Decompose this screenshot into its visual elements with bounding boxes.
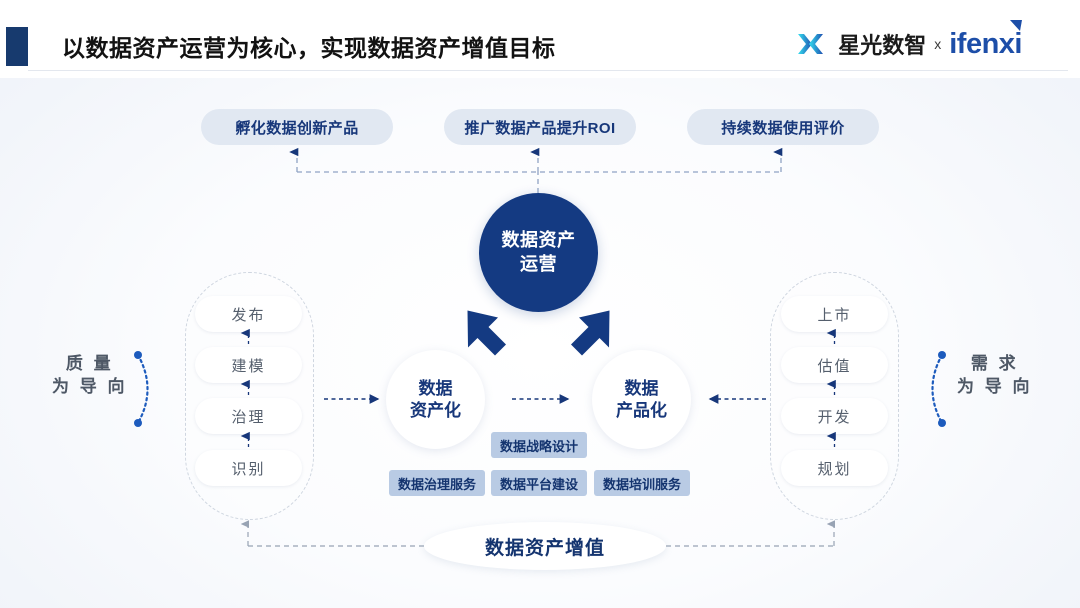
- right-orientation-arc: [933, 355, 943, 423]
- slide-header: 以数据资产运营为核心，实现数据资产增值目标 星光数智 x ifenxi: [0, 0, 1080, 78]
- center-node-line1: 数据资产: [502, 229, 576, 252]
- thick-arrow-left: [468, 311, 507, 356]
- right-arc-dot-top: [938, 351, 946, 359]
- stage-label: 建模: [231, 355, 265, 376]
- stage-label: 估值: [817, 355, 851, 376]
- brand-separator: x: [933, 36, 942, 52]
- left-orientation-arc: [138, 355, 148, 423]
- left-orientation-label: 质 量 为 导 向: [52, 353, 127, 399]
- outcome-pill-label: 推广数据产品提升ROI: [464, 117, 615, 138]
- left-stage-publish[interactable]: 发布: [195, 296, 302, 332]
- center-node-data-asset-operation[interactable]: 数据资产 运营: [479, 193, 598, 312]
- right-orientation-line2: 为 导 向: [957, 376, 1032, 399]
- right-arc-dot-bottom: [938, 419, 946, 427]
- stage-label: 规划: [817, 458, 851, 479]
- node-line1: 数据: [419, 378, 453, 400]
- right-orientation-line1: 需 求: [957, 353, 1032, 376]
- outcome-pill-incubate[interactable]: 孵化数据创新产品: [201, 109, 393, 145]
- slide-canvas: 以数据资产运营为核心，实现数据资产增值目标 星光数智 x ifenxi: [0, 0, 1080, 608]
- thick-arrow-right: [571, 311, 610, 356]
- thick-arrows-to-center: [434, 311, 610, 358]
- header-divider: [28, 70, 1068, 71]
- node-data-assetization[interactable]: 数据 资产化: [386, 350, 485, 449]
- brand-name-en: ifenxi: [949, 30, 1022, 59]
- node-line1: 数据: [625, 378, 659, 400]
- xingguang-logo-icon: [797, 31, 831, 57]
- right-stage-development[interactable]: 开发: [781, 398, 888, 434]
- left-orientation-line1: 质 量: [52, 353, 127, 376]
- stage-label: 上市: [817, 304, 851, 325]
- outcome-pill-label: 孵化数据创新产品: [235, 117, 358, 138]
- service-tag-training[interactable]: 数据培训服务: [594, 470, 690, 496]
- page-title: 以数据资产运营为核心，实现数据资产增值目标: [62, 29, 556, 63]
- service-tag-strategy-design[interactable]: 数据战略设计: [491, 432, 587, 458]
- stage-label: 治理: [231, 406, 265, 427]
- service-tag-label: 数据治理服务: [398, 474, 476, 493]
- service-tag-label: 数据平台建设: [500, 474, 578, 493]
- right-stage-planning[interactable]: 规划: [781, 450, 888, 486]
- service-tag-governance[interactable]: 数据治理服务: [389, 470, 485, 496]
- outcome-pill-evaluate[interactable]: 持续数据使用评价: [687, 109, 879, 145]
- center-node-line2: 运营: [520, 253, 557, 276]
- left-stage-model[interactable]: 建模: [195, 347, 302, 383]
- top-outcome-connectors: [297, 152, 781, 193]
- left-orientation-line2: 为 导 向: [52, 376, 127, 399]
- stage-label: 发布: [231, 304, 265, 325]
- stage-label: 开发: [817, 406, 851, 427]
- right-orientation-label: 需 求 为 导 向: [957, 353, 1032, 399]
- right-stage-listing[interactable]: 上市: [781, 296, 888, 332]
- value-node-label: 数据资产增值: [485, 533, 605, 560]
- node-data-productization[interactable]: 数据 产品化: [592, 350, 691, 449]
- left-stage-identify[interactable]: 识别: [195, 450, 302, 486]
- title-accent-bar: [6, 27, 28, 66]
- node-line2: 资产化: [410, 400, 461, 422]
- brand-name-cn: 星光数智: [838, 28, 926, 60]
- left-stage-govern[interactable]: 治理: [195, 398, 302, 434]
- brand-en-text: ifenxi: [949, 28, 1022, 60]
- brand-tick-icon: [1009, 19, 1024, 32]
- outcome-pill-promote[interactable]: 推广数据产品提升ROI: [444, 109, 636, 145]
- left-arc-dot-top: [134, 351, 142, 359]
- outcome-pill-label: 持续数据使用评价: [721, 117, 844, 138]
- service-tag-label: 数据战略设计: [500, 436, 578, 455]
- value-node-data-asset-appreciation[interactable]: 数据资产增值: [424, 522, 666, 570]
- left-arc-dot-bottom: [134, 419, 142, 427]
- service-tag-label: 数据培训服务: [603, 474, 681, 493]
- node-line2: 产品化: [616, 400, 667, 422]
- stage-label: 识别: [231, 458, 265, 479]
- service-tag-platform-build[interactable]: 数据平台建设: [491, 470, 587, 496]
- right-stage-valuation[interactable]: 估值: [781, 347, 888, 383]
- brand-lockup: 星光数智 x ifenxi: [797, 24, 1022, 64]
